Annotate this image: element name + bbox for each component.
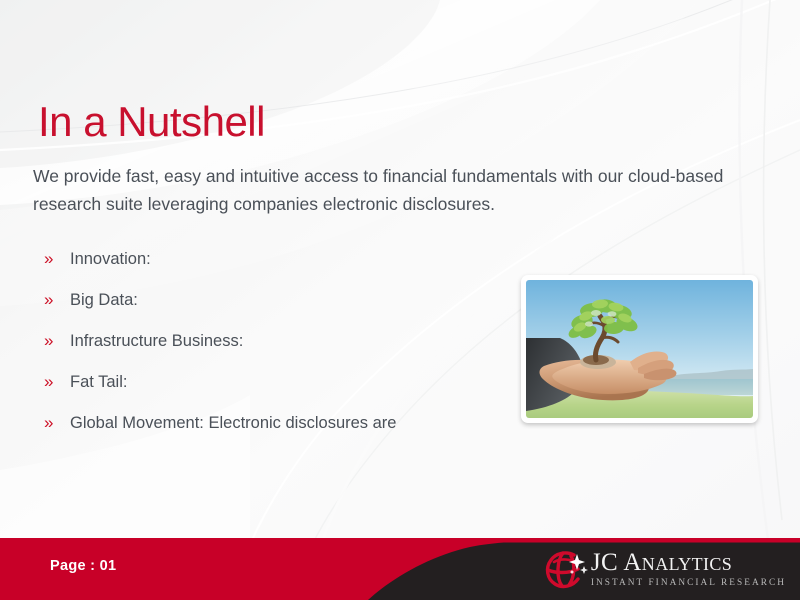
photo-card: [521, 275, 758, 423]
chevron-bullet-icon: »: [44, 373, 70, 390]
chevron-bullet-icon: »: [44, 332, 70, 349]
chevron-bullet-icon: »: [44, 414, 70, 431]
intro-paragraph: We provide fast, easy and intuitive acce…: [33, 162, 751, 219]
logo-name: JC Analytics: [591, 550, 786, 575]
list-item-label: Global Movement: Electronic disclosures …: [70, 415, 396, 432]
list-item: » Big Data:: [44, 291, 514, 332]
logo-text-block: JC Analytics INSTANT FINANCIAL RESEARCH: [591, 550, 786, 588]
chevron-bullet-icon: »: [44, 291, 70, 308]
tree-in-hands-photo: [526, 280, 753, 418]
list-item: » Infrastructure Business:: [44, 332, 514, 373]
list-item-label: Fat Tail:: [70, 374, 127, 391]
list-item-label: Big Data:: [70, 292, 138, 309]
photo-frame: [526, 280, 753, 418]
slide-footer: Page : 01: [0, 538, 800, 600]
list-item: » Innovation:: [44, 250, 514, 291]
slide-title: In a Nutshell: [38, 100, 265, 144]
list-item: » Fat Tail:: [44, 373, 514, 414]
globe-sparkle-icon: [544, 548, 590, 590]
bullet-list: » Innovation: » Big Data: » Infrastructu…: [44, 250, 514, 455]
list-item-label: Innovation:: [70, 251, 151, 268]
chevron-bullet-icon: »: [44, 250, 70, 267]
list-item: » Global Movement: Electronic disclosure…: [44, 414, 514, 455]
page-number-label: Page : 01: [50, 558, 116, 574]
list-item-label: Infrastructure Business:: [70, 333, 243, 350]
presentation-slide: In a Nutshell We provide fast, easy and …: [0, 0, 800, 600]
logo-tagline: INSTANT FINANCIAL RESEARCH: [591, 579, 786, 588]
brand-logo: JC Analytics INSTANT FINANCIAL RESEARCH: [544, 546, 786, 592]
